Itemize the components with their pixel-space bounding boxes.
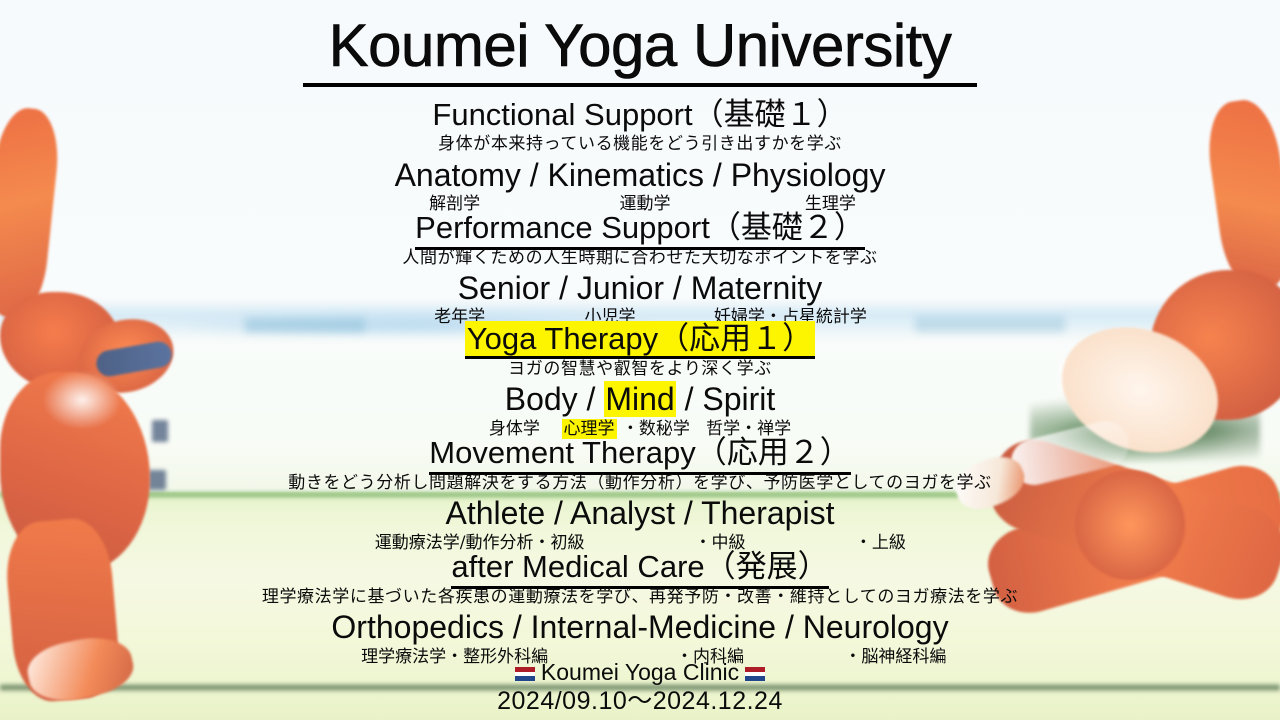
subject-maternity: Maternity — [691, 270, 823, 306]
separator-slash: / — [530, 157, 548, 193]
subject-kinematics: Kinematics — [548, 157, 705, 193]
subject-anatomy: Anatomy — [395, 157, 521, 193]
section-subjects: Body / Mind / Spirit — [0, 381, 1280, 417]
section-header-text: Movement Therapy（応用２） — [429, 435, 851, 475]
section-description: 人間が輝くための人生時期に合わせた大切なポイントを学ぶ — [0, 248, 1280, 269]
clinic-name: Koumei Yoga Clinic — [541, 659, 739, 685]
section-subjects: Anatomy / Kinematics / Physiology — [0, 157, 1280, 193]
section-header-text: after Medical Care（発展） — [451, 549, 828, 589]
section-movement-therapy: Movement Therapy（応用２） 動きをどう分析し問題解決をする方法（… — [0, 436, 1280, 553]
separator-slash: / — [685, 381, 703, 417]
subject-spirit: Spirit — [702, 381, 775, 417]
date-range: 2024/09.10〜2024.12.24 — [0, 687, 1280, 715]
subject-orthopedics: Orthopedics — [331, 609, 504, 645]
subject-neurology: Neurology — [803, 609, 949, 645]
slide-canvas: Koumei Yoga University Functional Suppor… — [0, 0, 1280, 720]
separator-slash: / — [554, 495, 570, 531]
separator-slash: / — [513, 609, 531, 645]
separator-slash: / — [673, 270, 691, 306]
section-performance-support: Performance Support（基礎２） 人間が輝くための人生時期に合わ… — [0, 211, 1280, 327]
netherlands-flag-icon — [515, 667, 535, 681]
separator-slash: / — [684, 495, 701, 531]
separator-slash: / — [587, 381, 605, 417]
section-header: Yoga Therapy（応用１） — [0, 322, 1280, 356]
section-description: ヨガの智慧や叡智をより深く学ぶ — [0, 359, 1280, 380]
subject-athlete: Athlete — [446, 495, 546, 531]
subject-internal-medicine: Internal-Medicine — [531, 609, 776, 645]
separator-slash: / — [785, 609, 803, 645]
section-description: 身体が本来持っている機能をどう引き出すかを学ぶ — [0, 134, 1280, 155]
subject-therapist: Therapist — [701, 495, 834, 531]
slide-content: Koumei Yoga University Functional Suppor… — [0, 0, 1280, 720]
section-after-medical-care: after Medical Care（発展） 理学療法学に基づいた各疾患の運動療… — [0, 550, 1280, 667]
section-header: Performance Support（基礎２） — [0, 211, 1280, 245]
section-header-text: Yoga Therapy（応用１） — [465, 321, 815, 359]
section-functional-support: Functional Support（基礎１） 身体が本来持っている機能をどう引… — [0, 98, 1280, 214]
section-header: after Medical Care（発展） — [0, 550, 1280, 584]
section-description: 理学療法学に基づいた各疾患の運動療法を学び、再発予防・改善・維持としてのヨガ療法… — [0, 587, 1280, 608]
subject-physiology: Physiology — [731, 157, 886, 193]
subject-senior: Senior — [458, 270, 551, 306]
footer: Koumei Yoga Clinic 2024/09.10〜2024.12.24 — [0, 659, 1280, 715]
clinic-line: Koumei Yoga Clinic — [0, 659, 1280, 685]
netherlands-flag-icon — [745, 667, 765, 681]
subject-body: Body — [505, 381, 578, 417]
section-header-text: Functional Support（基礎１） — [432, 97, 847, 132]
section-yoga-therapy: Yoga Therapy（応用１） ヨガの智慧や叡智をより深く学ぶ Body /… — [0, 322, 1280, 439]
subject-analyst: Analyst — [570, 495, 675, 531]
section-subjects: Senior / Junior / Maternity — [0, 270, 1280, 306]
subject-mind: Mind — [604, 381, 675, 417]
section-subjects: Orthopedics / Internal-Medicine / Neurol… — [0, 609, 1280, 645]
section-header: Functional Support（基礎１） — [0, 98, 1280, 132]
section-subjects: Athlete / Analyst / Therapist — [0, 495, 1280, 531]
page-title: Koumei Yoga University — [0, 14, 1280, 78]
section-header-text: Performance Support（基礎２） — [415, 210, 865, 250]
separator-slash: / — [559, 270, 577, 306]
page-title-text: Koumei Yoga University — [303, 12, 978, 87]
separator-slash: / — [713, 157, 731, 193]
subject-junior: Junior — [577, 270, 664, 306]
section-header: Movement Therapy（応用２） — [0, 436, 1280, 470]
section-description: 動きをどう分析し問題解決をする方法（動作分析）を学び、予防医学としてのヨガを学ぶ — [0, 473, 1280, 494]
